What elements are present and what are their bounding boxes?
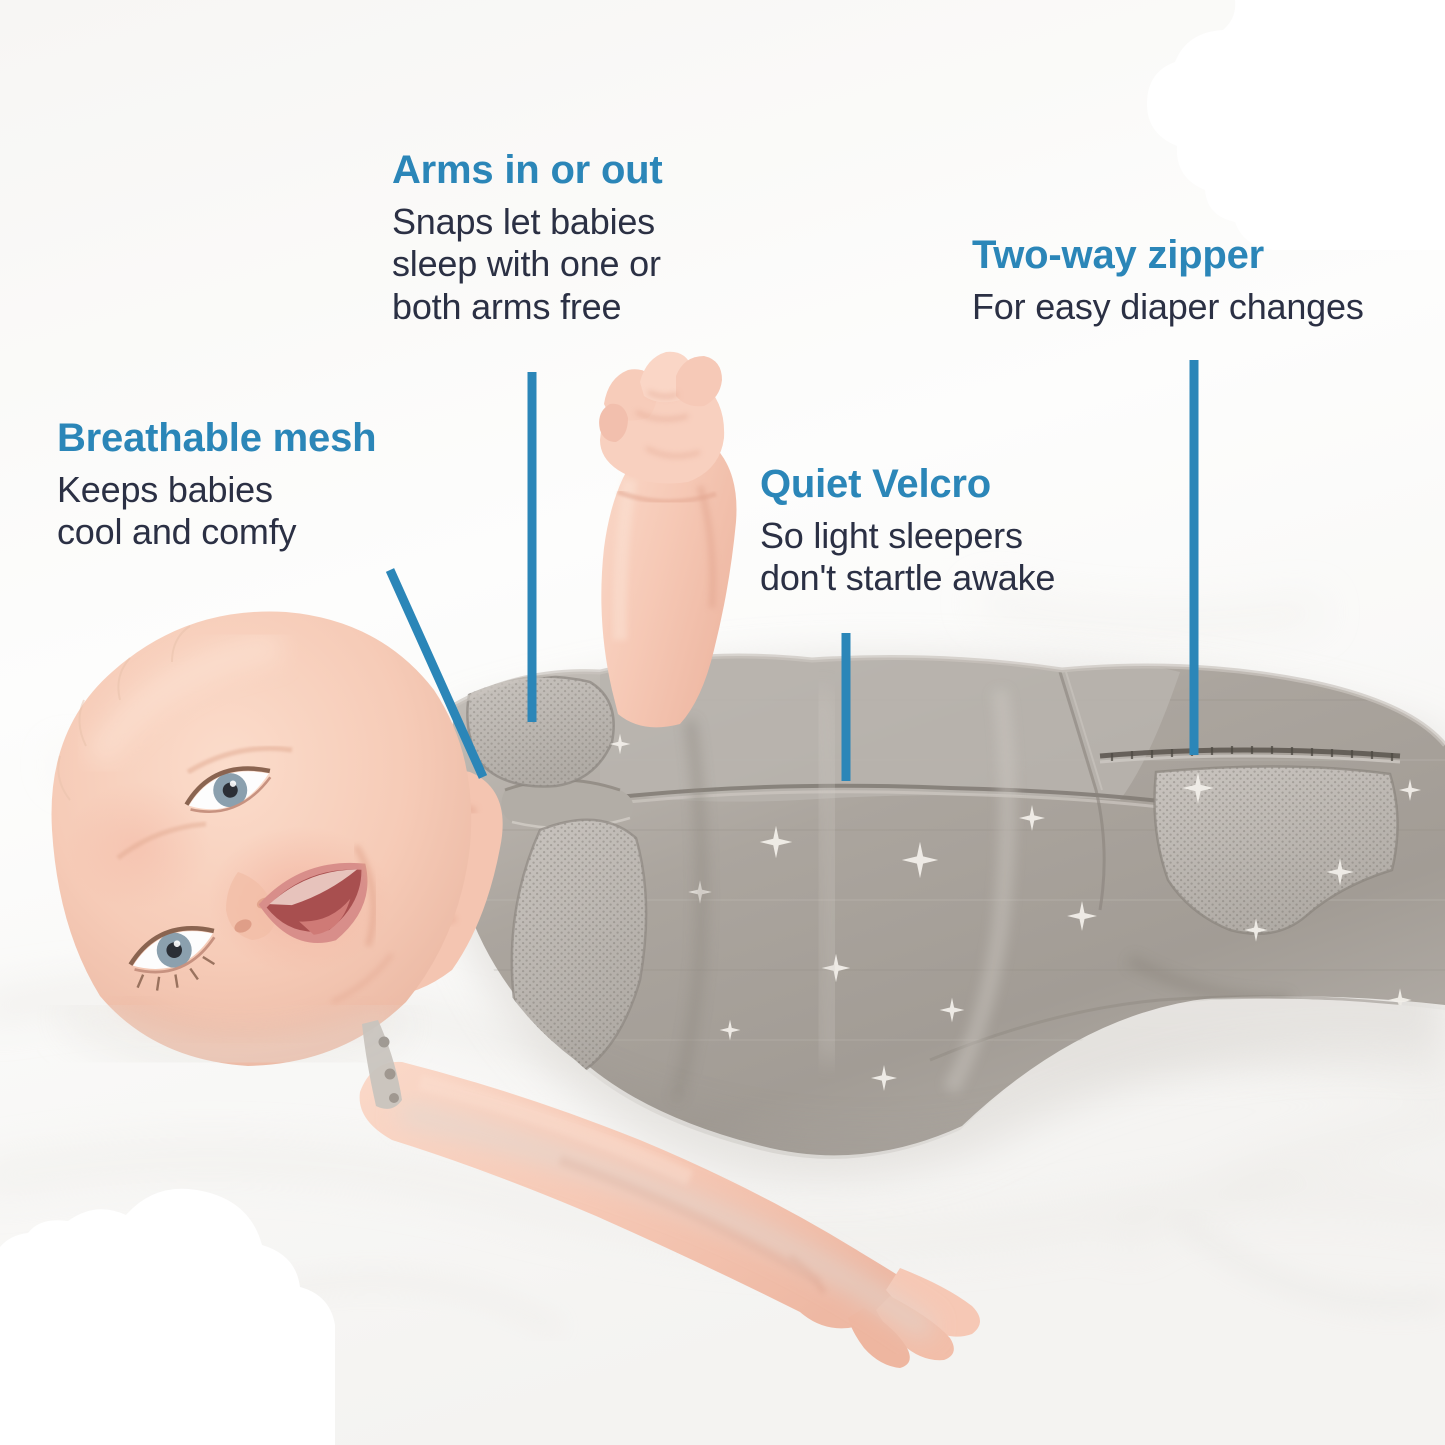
callout-body: Snaps let babies sleep with one or both … xyxy=(392,201,663,328)
product-photo xyxy=(0,0,1445,1445)
callout-heading: Two-way zipper xyxy=(972,235,1364,275)
callout-body: Keeps babies cool and comfy xyxy=(57,469,376,554)
infographic-canvas: Arms in or out Snaps let babies sleep wi… xyxy=(0,0,1445,1445)
callout-body: For easy diaper changes xyxy=(972,286,1364,328)
callout-heading: Arms in or out xyxy=(392,150,663,190)
callout-heading: Breathable mesh xyxy=(57,418,376,458)
callout-breathable-mesh: Breathable mesh Keeps babies cool and co… xyxy=(57,418,376,554)
callout-body: So light sleepers don't startle awake xyxy=(760,515,1055,600)
callout-heading: Quiet Velcro xyxy=(760,464,1055,504)
callout-two-way-zipper: Two-way zipper For easy diaper changes xyxy=(972,235,1364,328)
callout-arms-in-or-out: Arms in or out Snaps let babies sleep wi… xyxy=(392,150,663,328)
callout-quiet-velcro: Quiet Velcro So light sleepers don't sta… xyxy=(760,464,1055,600)
